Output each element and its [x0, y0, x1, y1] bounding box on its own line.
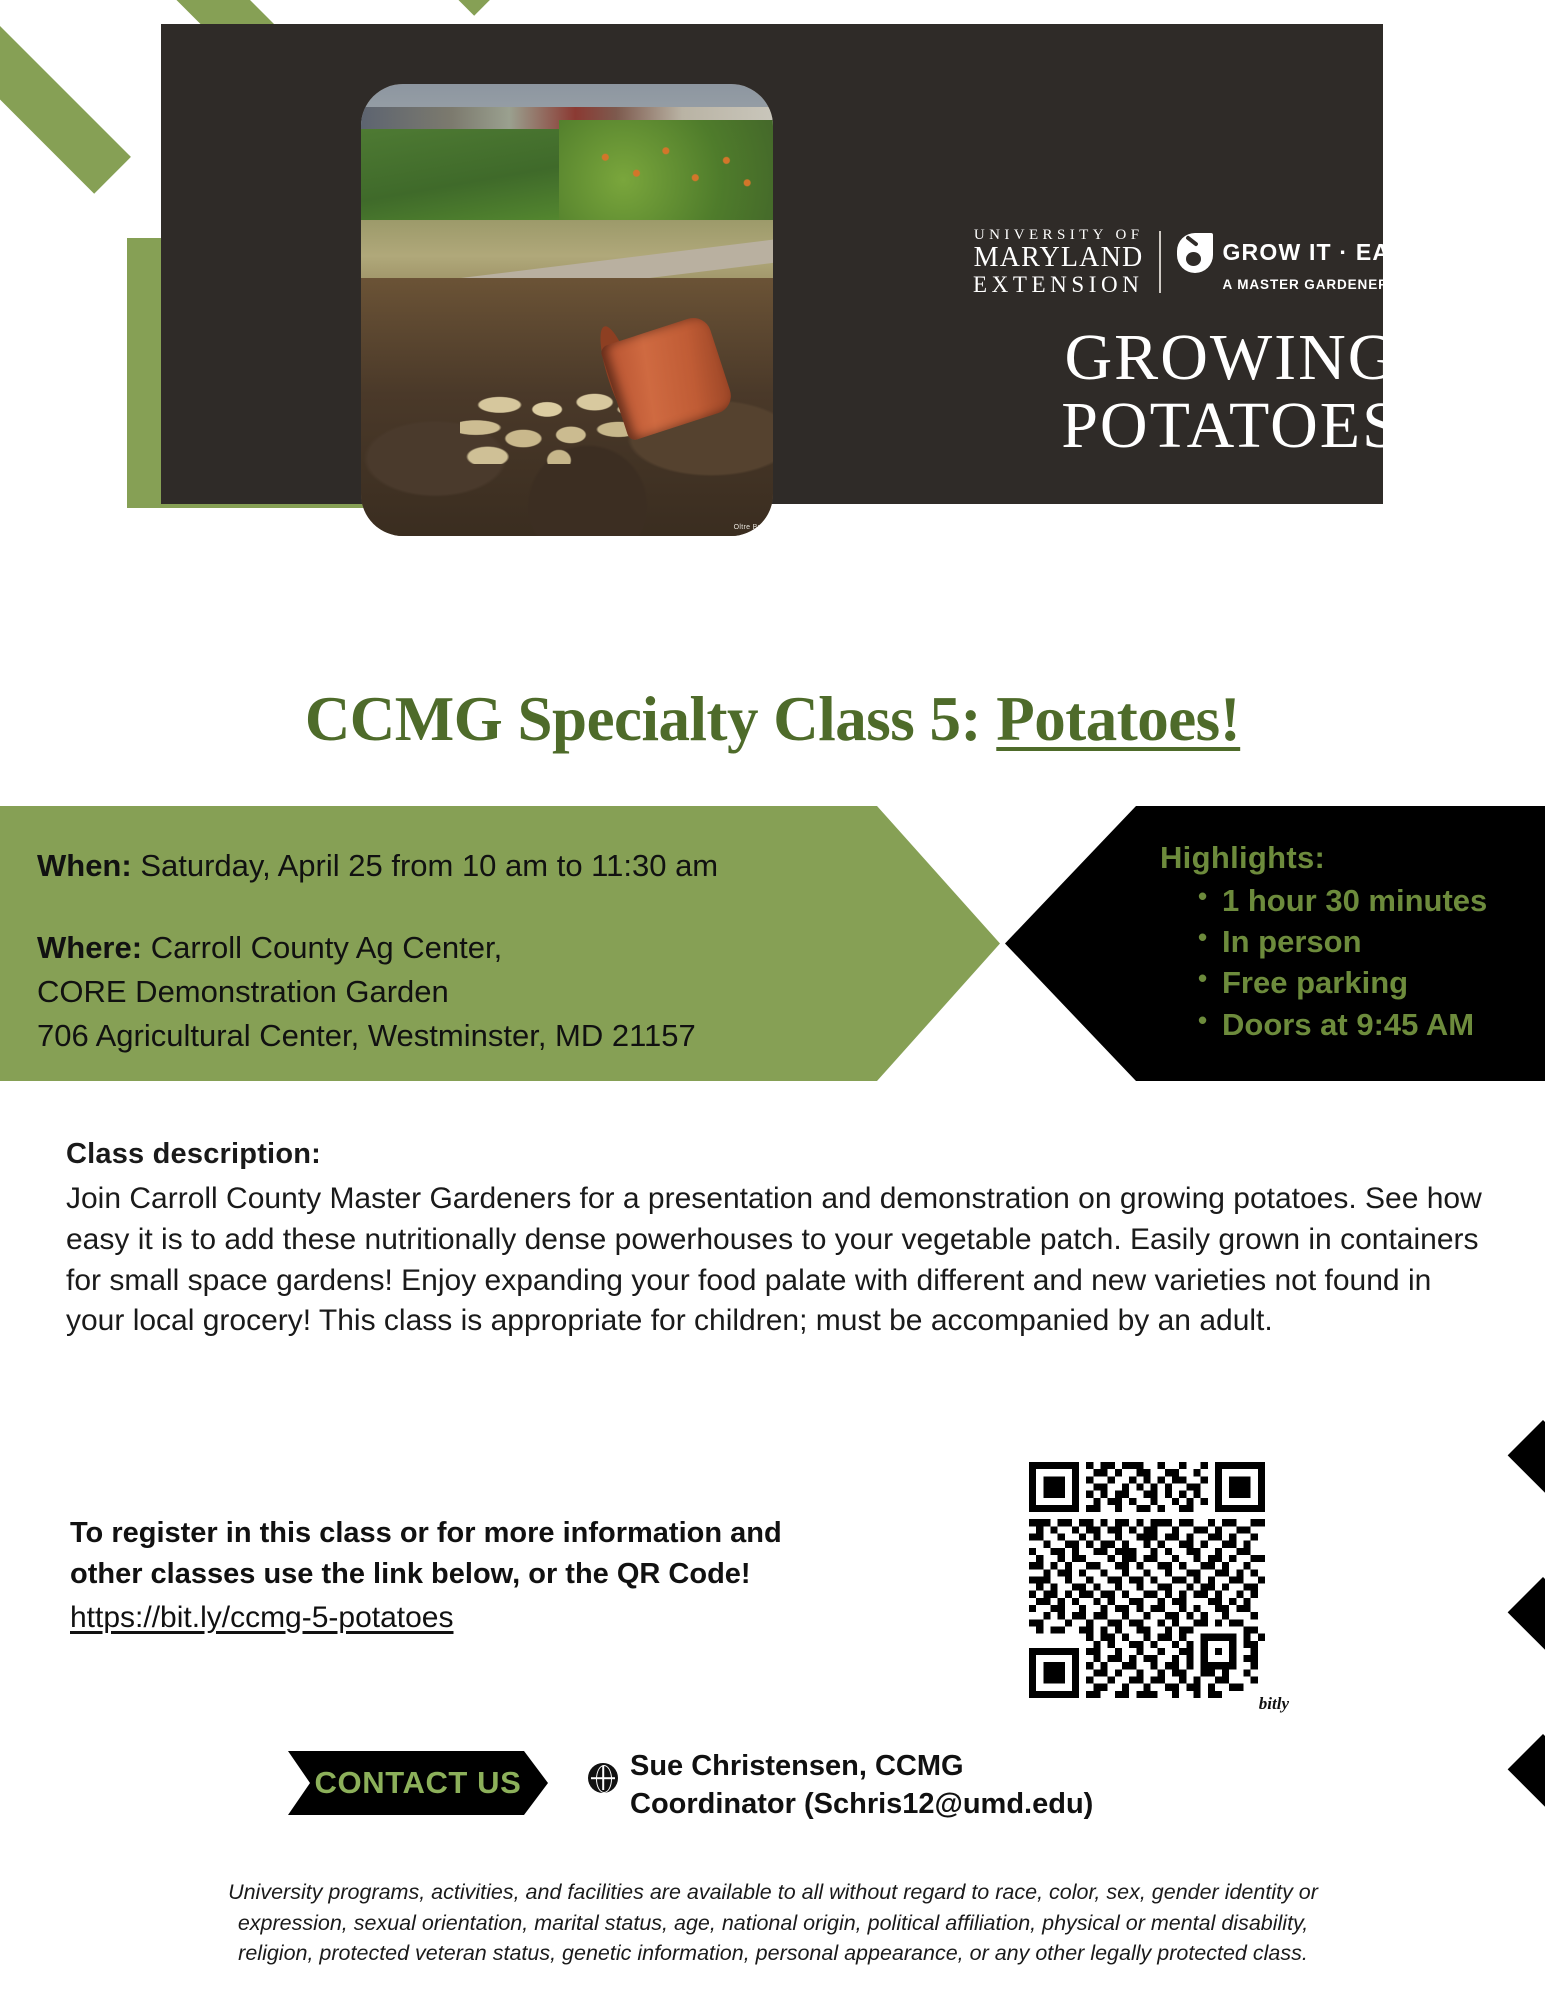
highlight-item: In person [1198, 921, 1487, 962]
grow-it-eat-it-logo: GROW IT · EAT IT A MASTER GARDENER PROGR… [1177, 233, 1470, 292]
where-label: Where: [37, 930, 142, 965]
contact-email: Coordinator (Schris12@umd.edu) [630, 1786, 1330, 1824]
highlights-panel: Highlights: 1 hour 30 minutes In person … [1005, 806, 1545, 1081]
hero-headline: GROWING POTATOES [951, 324, 1511, 460]
registration-heading: To register in this class or for more in… [70, 1513, 860, 1595]
umd-wordmark: UNIVERSITY OF MARYLAND EXTENSION [973, 228, 1143, 296]
class-description-section: Class description: Join Carroll County M… [66, 1138, 1486, 1342]
hero-headline-line2: POTATOES [951, 392, 1511, 460]
master-gardener-subtitle: A MASTER GARDENER PROGRAM [1222, 277, 1470, 292]
highlight-item: Free parking [1198, 962, 1487, 1003]
footer-line-2: expression, sexual orientation, marital … [38, 1908, 1508, 1939]
where-block: Where: Carroll County Ag Center, CORE De… [37, 926, 857, 1058]
footer-line-1: University programs, activities, and fac… [38, 1877, 1508, 1908]
globe-icon [588, 1763, 618, 1793]
hero-banner: Oltre Bror UNIVERSITY OF MARYLAND EXTENS… [161, 24, 1383, 504]
decorative-stripe-bottom-right-1 [1508, 1420, 1545, 1632]
qr-brand-label: bitly [1259, 1694, 1289, 1714]
highlight-item: 1 hour 30 minutes [1198, 880, 1487, 921]
contact-us-badge: CONTACT US [288, 1751, 548, 1815]
registration-section: To register in this class or for more in… [70, 1513, 860, 1635]
where-line-3: 706 Agricultural Center, Westminster, MD… [37, 1014, 857, 1058]
potato-harvest-photo: Oltre Bror [361, 84, 773, 536]
when-line: When: Saturday, April 25 from 10 am to 1… [37, 848, 857, 884]
umd-line-university: UNIVERSITY OF [973, 228, 1143, 243]
page-title: CCMG Specialty Class 5: Potatoes! [0, 683, 1545, 756]
contact-details: Sue Christensen, CCMG Coordinator (Schri… [630, 1748, 1330, 1823]
contact-name: Sue Christensen, CCMG [630, 1748, 1330, 1786]
leaf-tomato-icon [1177, 233, 1213, 273]
decorative-stripe-bottom-right-2 [1508, 1577, 1545, 1789]
contact-us-label: CONTACT US [315, 1765, 522, 1801]
class-description-body: Join Carroll County Master Gardeners for… [66, 1179, 1486, 1342]
where-line-2: CORE Demonstration Garden [37, 970, 857, 1014]
nondiscrimination-footer: University programs, activities, and fac… [38, 1877, 1508, 1969]
hero-headline-line1: GROWING [951, 324, 1511, 392]
footer-line-3: religion, protected veteran status, gene… [38, 1938, 1508, 1969]
when-where-panel: When: Saturday, April 25 from 10 am to 1… [0, 806, 1000, 1081]
photo-credit: Oltre Bror [734, 524, 767, 531]
where-value: Carroll County Ag Center, [142, 930, 502, 965]
decorative-stripe-top-left-1 [0, 0, 131, 194]
registration-link[interactable]: https://bit.ly/ccmg-5-potatoes [70, 1601, 454, 1635]
registration-heading-line1: To register in this class or for more in… [70, 1513, 860, 1554]
decorative-stripe-top-left-3 [283, 0, 511, 16]
umd-line-extension: EXTENSION [973, 273, 1143, 296]
class-description-heading: Class description: [66, 1138, 1486, 1171]
when-value: Saturday, April 25 from 10 am to 11:30 a… [132, 848, 718, 883]
when-label: When: [37, 848, 132, 883]
grow-it-eat-it-title: GROW IT · EAT IT [1222, 239, 1434, 266]
page-title-plain: CCMG Specialty Class 5: [305, 684, 996, 754]
umd-line-maryland: MARYLAND [973, 244, 1143, 272]
event-info-banner: When: Saturday, April 25 from 10 am to 1… [0, 806, 1545, 1081]
lockup-divider [1159, 231, 1161, 293]
umd-extension-lockup: UNIVERSITY OF MARYLAND EXTENSION GROW IT… [973, 227, 1493, 297]
highlights-title: Highlights: [1160, 840, 1487, 876]
qr-code-block[interactable]: bitly [1029, 1462, 1285, 1712]
highlights-list: 1 hour 30 minutes In person Free parking… [1160, 880, 1487, 1045]
decorative-stripe-bottom-right-3 [1508, 1734, 1545, 1946]
highlight-item: Doors at 9:45 AM [1198, 1004, 1487, 1045]
page-title-underlined: Potatoes! [996, 684, 1240, 754]
registration-heading-line2: other classes use the link below, or the… [70, 1554, 860, 1595]
qr-code-icon[interactable] [1029, 1462, 1265, 1698]
